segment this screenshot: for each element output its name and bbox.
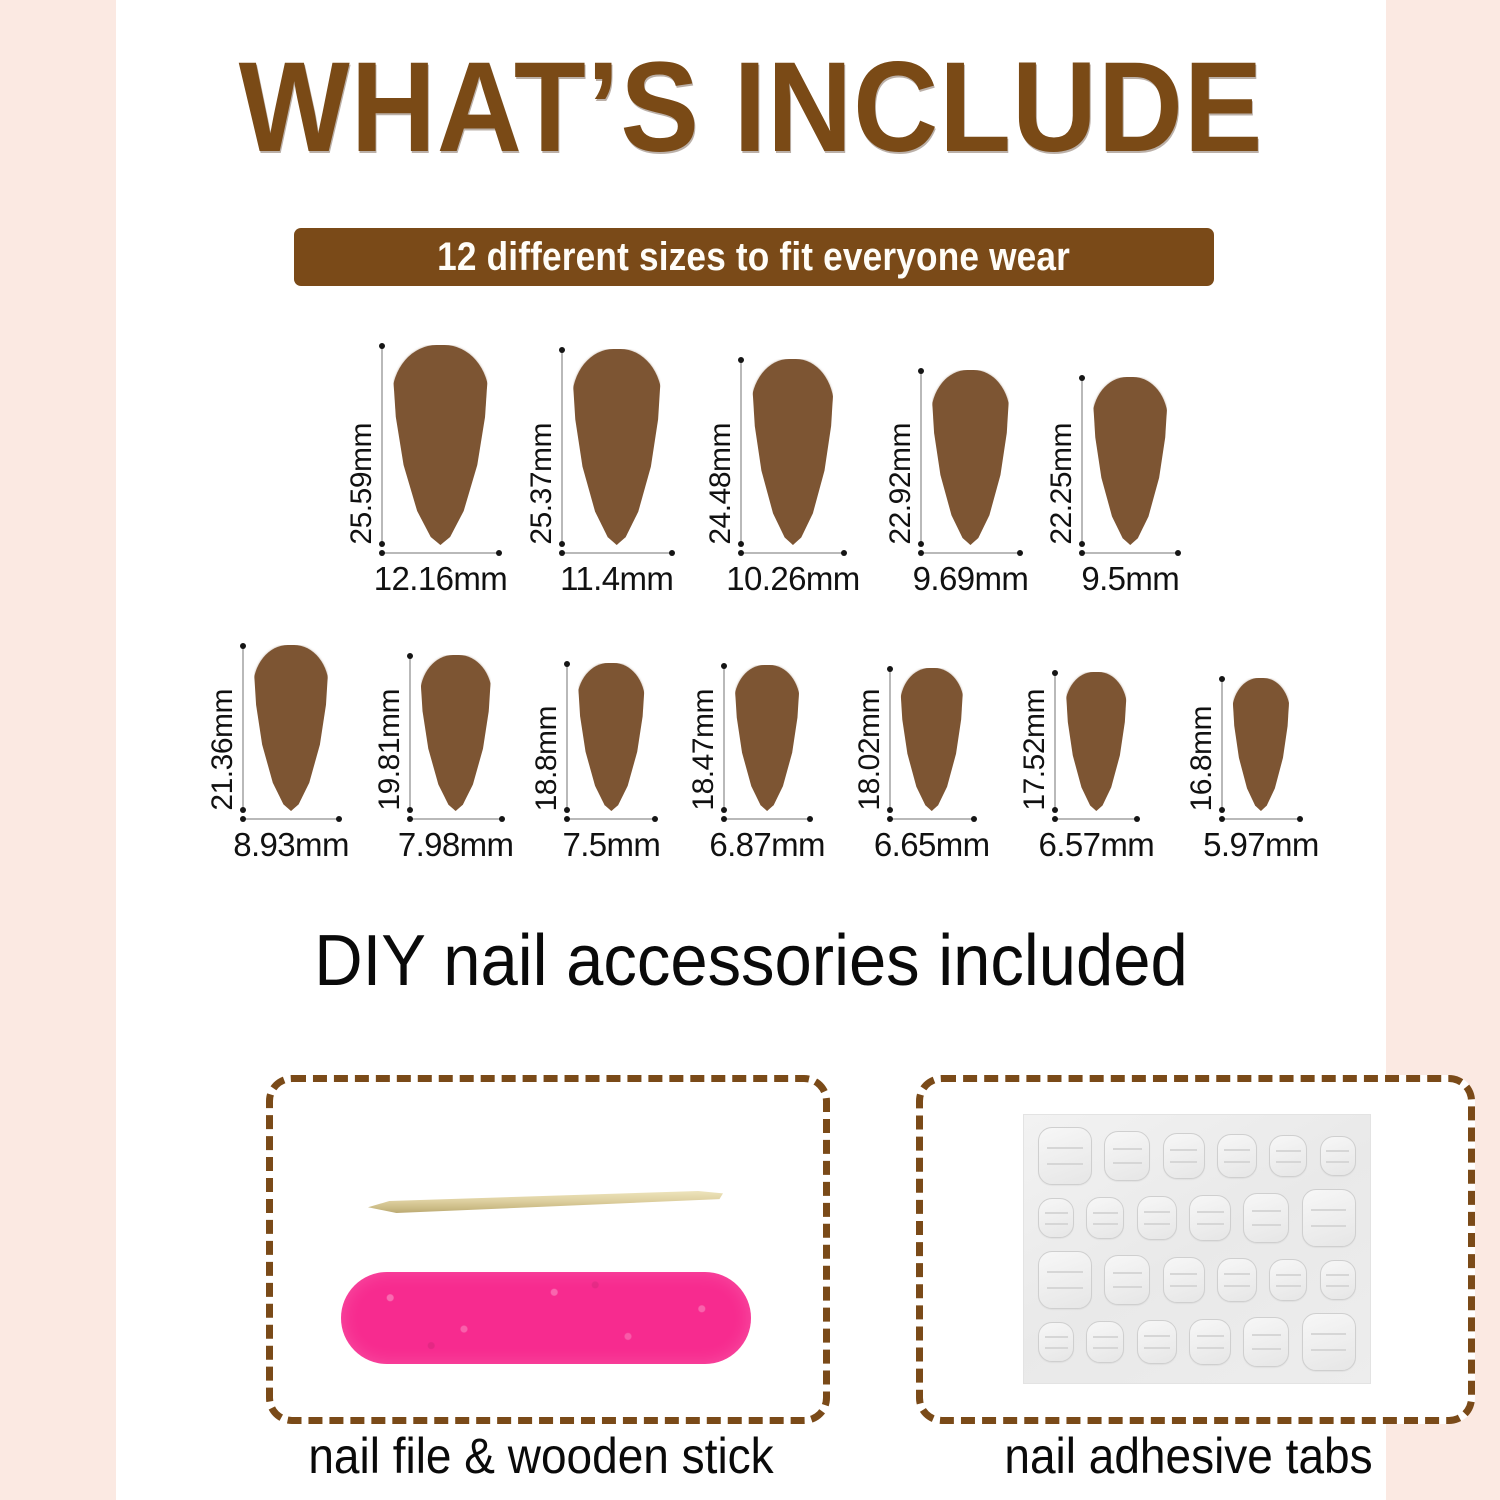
nail-tip-shape [900,668,964,811]
adhesive-tab [1038,1127,1092,1185]
adhesive-tab-sheet-icon [1023,1114,1371,1384]
length-dimension: 19.81mm [375,655,420,811]
length-dimension: 17.52mm [1020,672,1065,811]
adhesive-tab [1243,1317,1289,1367]
nail-size-measure: 22.25mm [1047,377,1168,545]
adhesive-tab [1189,1195,1231,1241]
wooden-stick-body [368,1190,723,1214]
nail-size-measure: 21.36mm [208,645,329,811]
nail-size-item: 25.37mm11.4mm [515,349,673,598]
nail-size-measure: 18.8mm [532,663,645,811]
nail-size-item: 25.59mm12.16mm [329,345,507,598]
length-label: 19.81mm [375,689,405,811]
length-dimension: 22.92mm [886,370,931,545]
width-dimension: 7.98mm [398,811,514,864]
nail-size-measure: 17.52mm [1020,672,1127,811]
length-dimension: 22.25mm [1047,377,1092,545]
width-dimension-line [242,818,340,820]
nail-tip-shape [751,359,834,545]
width-dimension-line [381,552,500,554]
width-dimension-line [723,818,811,820]
length-dimension: 24.48mm [706,359,751,545]
adhesive-tab [1320,1136,1356,1176]
adhesive-tab [1302,1313,1356,1371]
nail-tip-shape [734,665,800,811]
nail-size-item: 18.8mm7.5mm [517,663,660,864]
accessories-heading: DIY nail accessories included [160,920,1341,1002]
adhesive-tab [1320,1260,1356,1300]
length-label: 18.02mm [855,689,885,811]
adhesive-tab [1163,1133,1205,1179]
adhesive-tab [1163,1257,1205,1303]
width-label: 9.69mm [913,560,1029,598]
width-dimension-line [920,552,1021,554]
adhesive-tab [1217,1134,1257,1178]
width-label: 10.26mm [726,560,859,598]
nail-tip-shape [577,663,645,811]
width-dimension-line [1081,552,1179,554]
adhesive-tab-row [1032,1189,1362,1247]
length-label: 18.8mm [532,706,562,811]
nail-tip-shape [392,345,489,545]
adhesive-tab [1038,1198,1074,1238]
length-label: 22.25mm [1047,423,1077,545]
nail-size-measure: 18.02mm [855,668,964,811]
nail-tip-shape [253,645,329,811]
width-dimension-line [1054,818,1138,820]
nail-size-item: 22.25mm9.5mm [1036,377,1179,598]
width-dimension-line [889,818,975,820]
length-dimension-line [242,645,244,811]
nail-tip-shape [1092,377,1168,545]
width-label: 6.65mm [874,826,990,864]
width-label: 5.97mm [1203,826,1319,864]
adhesive-tab [1137,1196,1177,1240]
nail-size-item: 21.36mm8.93mm [188,645,349,864]
length-dimension-line [1221,678,1223,811]
width-label: 9.5mm [1081,560,1179,598]
nail-size-row-2: 21.36mm8.93mm19.81mm7.98mm18.8mm7.5mm18.… [126,645,1381,864]
nail-size-measure: 25.59mm [347,345,489,545]
adhesive-tab [1189,1319,1231,1365]
width-dimension-line [740,552,845,554]
width-dimension: 6.57mm [1039,811,1155,864]
nail-size-item: 18.47mm6.87mm [664,665,825,864]
nail-tip-shape [1065,672,1127,811]
length-dimension-line [889,668,891,811]
width-label: 7.5mm [562,826,660,864]
length-dimension-line [740,359,742,545]
length-dimension-line [381,345,383,545]
width-dimension-line [1221,818,1301,820]
adhesive-tab [1086,1321,1124,1363]
length-label: 25.37mm [527,423,557,545]
panel-adhesive-tabs [916,1075,1475,1424]
length-label: 16.8mm [1187,706,1217,811]
panel-left-caption: nail file & wooden stick [288,1427,794,1485]
width-dimension: 11.4mm [560,545,673,598]
content-card: WHAT’S INCLUDE 12 different sizes to fit… [116,0,1386,1500]
width-label: 8.93mm [233,826,349,864]
adhesive-tab-row [1032,1313,1362,1371]
adhesive-tab [1104,1255,1150,1305]
adhesive-tab [1038,1322,1074,1362]
adhesive-tab [1137,1320,1177,1364]
nail-size-measure: 25.37mm [527,349,662,545]
nail-size-item: 16.8mm5.97mm [1158,678,1319,864]
width-label: 7.98mm [398,826,514,864]
adhesive-tab [1302,1189,1356,1247]
width-dimension: 8.93mm [233,811,349,864]
length-label: 24.48mm [706,423,736,545]
width-dimension: 12.16mm [374,545,507,598]
adhesive-tab [1086,1197,1124,1239]
wooden-stick-icon [368,1190,723,1214]
length-dimension: 18.8mm [532,663,577,811]
width-label: 6.57mm [1039,826,1155,864]
page-title: WHAT’S INCLUDE [167,44,1335,172]
width-label: 11.4mm [560,560,673,598]
nail-size-item: 19.81mm7.98mm [353,655,514,864]
length-label: 21.36mm [208,689,238,811]
length-dimension-line [1054,672,1056,811]
adhesive-tab [1104,1131,1150,1181]
adhesive-tab-row [1032,1127,1362,1185]
length-dimension-line [1081,377,1083,545]
width-dimension: 6.87mm [709,811,825,864]
nail-tip-shape [1232,678,1290,811]
panel-right-caption: nail adhesive tabs [938,1427,1439,1485]
nail-size-measure: 22.92mm [886,370,1010,545]
length-dimension-line [566,663,568,811]
length-dimension-line [561,349,563,545]
subtitle-banner: 12 different sizes to fit everyone wear [294,228,1214,286]
nail-size-item: 24.48mm10.26mm [681,359,859,598]
nail-size-measure: 19.81mm [375,655,492,811]
width-dimension-line [409,818,503,820]
adhesive-tab [1243,1193,1289,1243]
nail-tip-shape [420,655,492,811]
width-label: 6.87mm [709,826,825,864]
length-label: 17.52mm [1020,689,1050,811]
infographic-page: WHAT’S INCLUDE 12 different sizes to fit… [0,0,1500,1500]
length-dimension: 25.37mm [527,349,572,545]
width-dimension: 9.5mm [1081,545,1179,598]
width-dimension: 9.69mm [913,545,1029,598]
nail-size-measure: 24.48mm [706,359,834,545]
subtitle-banner-text: 12 different sizes to fit everyone wear [438,235,1071,280]
length-label: 25.59mm [347,423,377,545]
width-dimension: 6.65mm [874,811,990,864]
length-dimension: 16.8mm [1187,678,1232,811]
nail-tip-shape [931,370,1010,545]
nail-size-item: 18.02mm6.65mm [829,668,990,864]
length-dimension-line [409,655,411,811]
adhesive-tab [1269,1135,1307,1177]
length-dimension-line [723,665,725,811]
width-dimension-line [561,552,673,554]
adhesive-tab-row [1032,1251,1362,1309]
width-label: 12.16mm [374,560,507,598]
length-dimension: 18.02mm [855,668,900,811]
nail-size-item: 22.92mm9.69mm [868,370,1029,598]
length-label: 18.47mm [689,689,719,811]
nail-size-item: 17.52mm6.57mm [994,672,1155,864]
width-dimension: 10.26mm [726,545,859,598]
nail-size-measure: 18.47mm [689,665,800,811]
nail-size-measure: 16.8mm [1187,678,1290,811]
width-dimension: 7.5mm [562,811,660,864]
panel-nail-file-and-stick [266,1075,830,1424]
adhesive-tab [1038,1251,1092,1309]
adhesive-tab [1217,1258,1257,1302]
nail-tip-shape [572,349,662,545]
nail-file-icon [341,1272,751,1364]
width-dimension: 5.97mm [1203,811,1319,864]
nail-size-row-1: 25.59mm12.16mm25.37mm11.4mm24.48mm10.26m… [134,345,1374,598]
length-dimension: 21.36mm [208,645,253,811]
adhesive-tab [1269,1259,1307,1301]
width-dimension-line [566,818,656,820]
length-label: 22.92mm [886,423,916,545]
length-dimension: 25.59mm [347,345,392,545]
length-dimension-line [920,370,922,545]
length-dimension: 18.47mm [689,665,734,811]
